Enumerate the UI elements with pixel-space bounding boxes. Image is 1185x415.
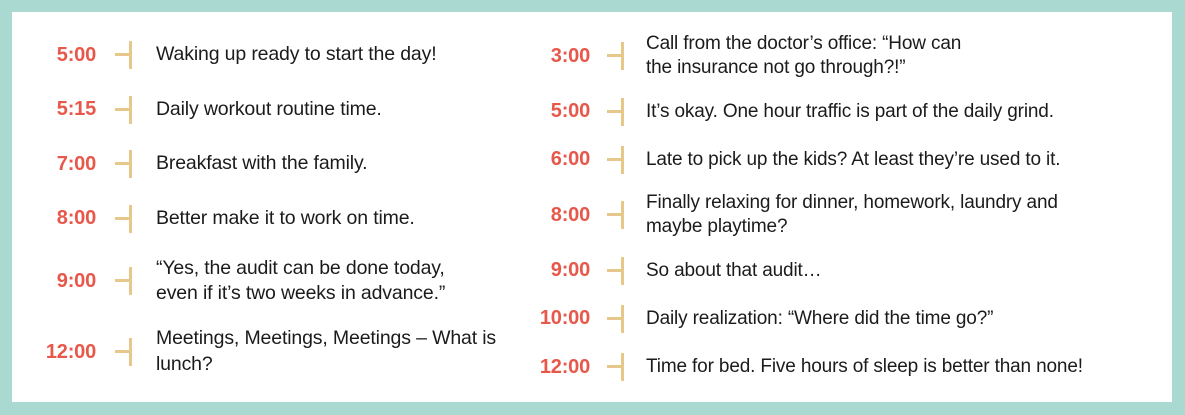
timeline-tick-icon xyxy=(602,254,636,288)
timeline-rows-right: 3:00Call from the doctor’s office: “How … xyxy=(512,32,1160,384)
timeline-row: 7:00Breakfast with the family. xyxy=(12,147,512,181)
timeline-row-text: Breakfast with the family. xyxy=(156,151,512,177)
timeline-tick-icon xyxy=(110,38,144,72)
timeline-row-time: 6:00 xyxy=(512,148,590,171)
timeline-tick-icon xyxy=(602,350,636,384)
timeline-tick-icon xyxy=(602,198,636,232)
timeline-tick-icon xyxy=(110,202,144,236)
timeline-tick-icon xyxy=(602,95,636,129)
timeline-row: 12:00Time for bed. Five hours of sleep i… xyxy=(512,350,1160,384)
timeline-row-time: 12:00 xyxy=(12,341,96,364)
timeline-tick-icon xyxy=(602,39,636,73)
timeline-row: 9:00“Yes, the audit can be done today, e… xyxy=(12,256,512,306)
timeline-row: 9:00So about that audit… xyxy=(512,254,1160,288)
timeline-row-text: Meetings, Meetings, Meetings – What is l… xyxy=(156,326,512,377)
timeline-row-text: Late to pick up the kids? At least they’… xyxy=(646,147,1160,172)
timeline-row-time: 5:00 xyxy=(512,100,590,123)
timeline-tick-arm xyxy=(607,317,624,320)
timeline-tick-arm xyxy=(115,53,132,56)
timeline-row-time: 9:00 xyxy=(12,270,96,293)
timeline-tick-icon xyxy=(602,143,636,177)
timeline-row: 5:15Daily workout routine time. xyxy=(12,93,512,127)
timeline-row-text: “Yes, the audit can be done today, even … xyxy=(156,256,512,306)
timeline-row-time: 8:00 xyxy=(512,204,590,227)
timeline-tick-arm xyxy=(115,279,132,282)
timeline-row-text: Time for bed. Five hours of sleep is bet… xyxy=(646,354,1160,379)
timeline-tick-icon xyxy=(110,93,144,127)
timeline-row: 5:00Waking up ready to start the day! xyxy=(12,38,512,72)
timeline-tick-arm xyxy=(115,162,132,165)
timeline-tick-arm xyxy=(607,158,624,161)
timeline-row-text: Call from the doctor’s office: “How can … xyxy=(646,32,1160,80)
timeline-tick-arm xyxy=(607,365,624,368)
timeline-tick-icon xyxy=(110,264,144,298)
timeline-row-text: Daily workout routine time. xyxy=(156,97,512,123)
timeline-row-text: So about that audit… xyxy=(646,258,1160,283)
timeline-row-text: Daily realization: “Where did the time g… xyxy=(646,306,1160,331)
timeline-tick-arm xyxy=(115,217,132,220)
timeline-tick-arm xyxy=(607,54,624,57)
timeline-card: 5:00Waking up ready to start the day!5:1… xyxy=(12,12,1172,402)
timeline-row-time: 5:15 xyxy=(12,98,96,121)
infographic-frame: 5:00Waking up ready to start the day!5:1… xyxy=(0,0,1185,415)
timeline-row-time: 8:00 xyxy=(12,207,96,230)
timeline-row-text: Waking up ready to start the day! xyxy=(156,42,512,68)
timeline-row-time: 12:00 xyxy=(512,356,590,379)
timeline-tick-icon xyxy=(110,147,144,181)
timeline-row-time: 5:00 xyxy=(12,44,96,67)
timeline-tick-arm xyxy=(115,108,132,111)
timeline-rows-left: 5:00Waking up ready to start the day!5:1… xyxy=(12,38,512,378)
timeline-row-time: 7:00 xyxy=(12,153,96,176)
timeline-column-right: 3:00Call from the doctor’s office: “How … xyxy=(512,12,1160,402)
timeline-row-text: It’s okay. One hour traffic is part of t… xyxy=(646,99,1160,124)
timeline-row-time: 3:00 xyxy=(512,45,590,68)
timeline-tick-arm xyxy=(607,269,624,272)
timeline-row: 3:00Call from the doctor’s office: “How … xyxy=(512,32,1160,80)
timeline-row-time: 9:00 xyxy=(512,259,590,282)
timeline-tick-icon xyxy=(110,335,144,369)
timeline-columns: 5:00Waking up ready to start the day!5:1… xyxy=(12,12,1172,402)
timeline-row: 8:00Finally relaxing for dinner, homewor… xyxy=(512,191,1160,239)
timeline-tick-arm xyxy=(115,350,132,353)
timeline-column-left: 5:00Waking up ready to start the day!5:1… xyxy=(12,12,512,402)
timeline-tick-arm xyxy=(607,213,624,216)
timeline-row: 10:00Daily realization: “Where did the t… xyxy=(512,302,1160,336)
timeline-row: 5:00It’s okay. One hour traffic is part … xyxy=(512,95,1160,129)
timeline-row-text: Finally relaxing for dinner, homework, l… xyxy=(646,191,1160,239)
timeline-tick-icon xyxy=(602,302,636,336)
timeline-row-time: 10:00 xyxy=(512,307,590,330)
timeline-row: 6:00Late to pick up the kids? At least t… xyxy=(512,143,1160,177)
timeline-row: 12:00Meetings, Meetings, Meetings – What… xyxy=(12,326,512,377)
timeline-row: 8:00Better make it to work on time. xyxy=(12,202,512,236)
timeline-row-text: Better make it to work on time. xyxy=(156,206,512,232)
timeline-tick-arm xyxy=(607,110,624,113)
